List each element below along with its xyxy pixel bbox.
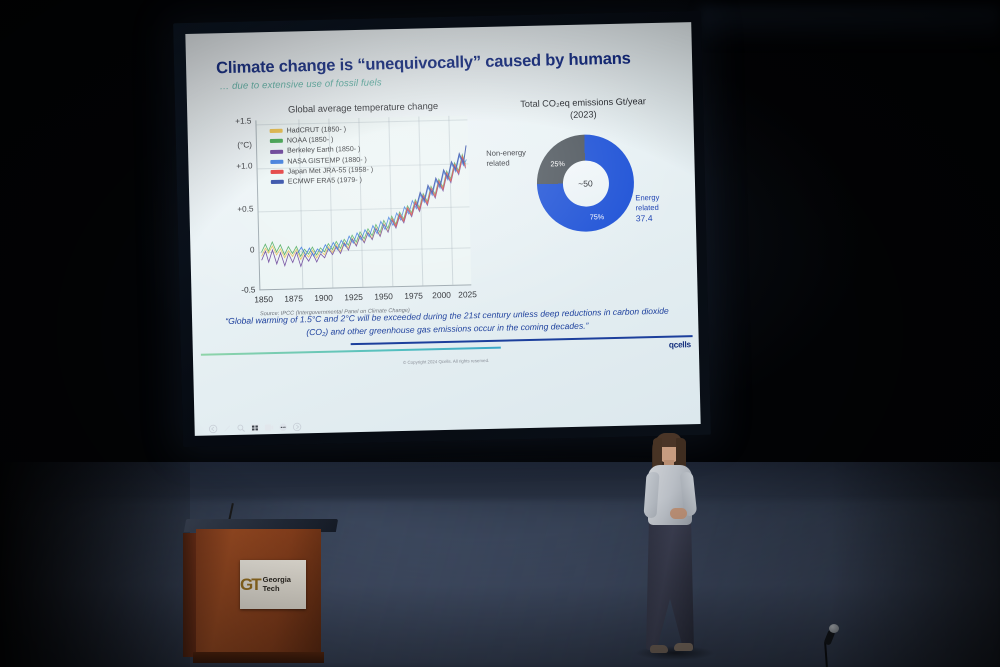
legend-swatch-icon bbox=[271, 180, 284, 184]
auditorium-stage: Climate change is “unequivocally” caused… bbox=[0, 0, 1000, 667]
podium-brand-plaque: GT Georgia Tech bbox=[240, 560, 306, 609]
zoom-icon[interactable] bbox=[237, 424, 246, 433]
lectern-podium: GT Georgia Tech bbox=[183, 519, 339, 667]
emissions-donut-chart: Total CO₂eq emissions Gt/year (2023) ~50… bbox=[483, 94, 683, 99]
donut-title-text: Total CO₂eq emissions Gt/year bbox=[520, 96, 646, 109]
donut-subtitle-year: (2023) bbox=[570, 110, 597, 121]
podium-front-panel: GT Georgia Tech bbox=[196, 529, 321, 660]
donut-label-non-energy: Non-energy related bbox=[486, 148, 536, 169]
presenter-hands bbox=[670, 508, 687, 519]
donut-chart-title: Total CO₂eq emissions Gt/year (2023) bbox=[483, 94, 684, 124]
chart-legend: HadCRUT (1850- ) NOAA (1850- ) Berkeley … bbox=[270, 124, 374, 188]
floor-microphone-stand bbox=[818, 624, 844, 667]
donut-label-energy: Energy related 37.4 bbox=[635, 192, 684, 224]
floor-shadow-left bbox=[0, 462, 190, 667]
next-slide-icon[interactable] bbox=[293, 422, 302, 431]
podium-brand-label: Georgia Tech bbox=[263, 576, 306, 593]
y-tick-1_5: +1.5 bbox=[217, 116, 251, 126]
mic-stand-pole bbox=[824, 642, 828, 667]
floor-shadow-right bbox=[830, 462, 1000, 667]
x-tick-1925: 1925 bbox=[344, 292, 363, 302]
donut-label-energy-text: Energy related bbox=[635, 193, 659, 212]
gt-logo-icon: GT bbox=[240, 576, 260, 593]
legend-swatch-icon bbox=[270, 149, 283, 153]
donut-slice-pct-non-energy: 25% bbox=[550, 159, 565, 168]
presenter-toolbar[interactable] bbox=[209, 422, 302, 433]
x-tick-1975: 1975 bbox=[404, 290, 423, 300]
y-tick-0_5: +0.5 bbox=[219, 204, 253, 214]
legend-swatch-icon bbox=[271, 170, 284, 174]
chart-title: Global average temperature change bbox=[263, 99, 463, 115]
legend-swatch-icon bbox=[270, 159, 283, 163]
presenter-shoe-left bbox=[650, 645, 668, 653]
screen-frame: Climate change is “unequivocally” caused… bbox=[173, 11, 711, 447]
copyright-notice: © Copyright 2024 Qcells. All rights rese… bbox=[193, 353, 699, 370]
x-tick-1950: 1950 bbox=[374, 291, 393, 301]
legend-label: HadCRUT (1850- ) bbox=[287, 124, 347, 136]
x-tick-1875: 1875 bbox=[284, 293, 303, 303]
all-slides-icon[interactable] bbox=[251, 423, 260, 432]
y-tick-1_0: +1.0 bbox=[218, 161, 252, 171]
x-tick-2000: 2000 bbox=[432, 290, 451, 300]
more-options-icon[interactable] bbox=[279, 423, 288, 432]
x-tick-1900: 1900 bbox=[314, 293, 333, 303]
podium-base bbox=[193, 652, 324, 663]
legend-swatch-icon bbox=[270, 139, 283, 143]
presenter-shoe-right bbox=[674, 643, 693, 651]
projection-screen: Climate change is “unequivocally” caused… bbox=[173, 11, 711, 447]
x-axis-ticks: 1850 1875 1900 1925 1950 1975 2000 2025 bbox=[221, 289, 483, 307]
donut-center-value: ~50 bbox=[562, 160, 609, 207]
x-tick-1850: 1850 bbox=[254, 294, 273, 304]
mic-head-icon bbox=[829, 624, 839, 633]
temperature-line-chart: Global average temperature change (°C) +… bbox=[217, 99, 479, 105]
x-tick-2025: 2025 bbox=[458, 289, 477, 299]
brand-logo: qcells bbox=[669, 339, 691, 350]
y-tick-0: 0 bbox=[220, 245, 254, 255]
presenter-trousers bbox=[646, 522, 694, 650]
pen-icon[interactable] bbox=[223, 424, 232, 433]
presentation-slide: Climate change is “unequivocally” caused… bbox=[185, 22, 700, 436]
donut-label-energy-value: 37.4 bbox=[636, 213, 653, 223]
previous-slide-icon[interactable] bbox=[209, 424, 218, 433]
footer-accent-gradient bbox=[201, 347, 501, 356]
legend-swatch-icon bbox=[270, 129, 283, 133]
ceiling-lighting-rig bbox=[700, 6, 1000, 46]
captions-icon[interactable] bbox=[265, 423, 274, 432]
y-axis-unit: (°C) bbox=[218, 140, 252, 150]
donut-ring: ~50 bbox=[536, 133, 635, 232]
presenter-person bbox=[630, 430, 720, 667]
legend-label: ECMWF ERA5 (1979- ) bbox=[288, 175, 362, 187]
donut-slice-pct-energy: 75% bbox=[590, 212, 605, 221]
